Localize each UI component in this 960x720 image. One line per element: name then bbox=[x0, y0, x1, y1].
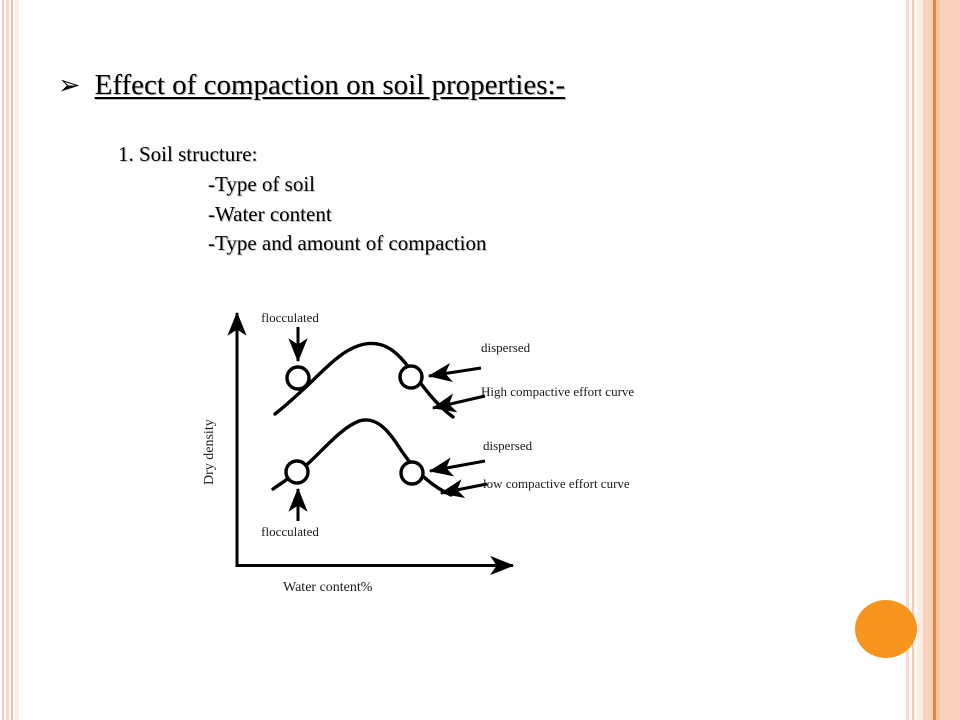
dispersed-marker-upper bbox=[400, 366, 422, 388]
right-stripe-5 bbox=[933, 0, 936, 720]
dispersed-marker-lower bbox=[401, 462, 423, 484]
label-lower-curve-name: low compactive effort curve bbox=[483, 476, 630, 491]
left-stripe-1 bbox=[2, 0, 4, 720]
left-stripe-3 bbox=[11, 0, 13, 720]
label-upper-curve-name: High compactive effort curve bbox=[481, 384, 634, 399]
left-stripe-2 bbox=[6, 0, 9, 720]
label-lower-flocculated: flocculated bbox=[261, 524, 319, 539]
x-axis-label: Water content% bbox=[283, 580, 373, 595]
list-item: 1. Soil structure: bbox=[118, 140, 486, 170]
list-item: -Type and amount of compaction bbox=[208, 229, 486, 259]
right-stripe-3 bbox=[917, 0, 923, 720]
page-title: ➢ Effect of compaction on soil propertie… bbox=[58, 70, 565, 100]
bullet-list: 1. Soil structure: -Type of soil -Water … bbox=[118, 140, 486, 259]
flocculated-marker-upper bbox=[287, 367, 309, 389]
page-title-text: Effect of compaction on soil properties:… bbox=[95, 70, 566, 100]
list-item: -Water content bbox=[208, 200, 486, 230]
left-stripe-4 bbox=[15, 0, 19, 720]
low-compactive-effort-curve bbox=[273, 420, 451, 495]
slide-canvas: ➢ Effect of compaction on soil propertie… bbox=[0, 0, 960, 720]
arrow-lower-dispersed bbox=[430, 461, 485, 471]
high-compactive-effort-curve bbox=[275, 343, 453, 417]
label-upper-flocculated: flocculated bbox=[261, 310, 319, 325]
label-lower-dispersed: dispersed bbox=[483, 438, 533, 453]
arrow-bullet-icon: ➢ bbox=[58, 72, 81, 99]
orange-accent-dot bbox=[855, 600, 917, 658]
arrow-upper-dispersed bbox=[429, 368, 481, 376]
annotation-arrows bbox=[298, 327, 487, 521]
list-item: -Type of soil bbox=[208, 170, 486, 200]
right-stripe-7 bbox=[940, 0, 960, 720]
y-axis-label: Dry density bbox=[202, 419, 217, 485]
label-upper-dispersed: dispersed bbox=[481, 340, 531, 355]
right-stripe-4 bbox=[923, 0, 933, 720]
arrow-lower-curve-name bbox=[441, 484, 487, 493]
right-stripe-6 bbox=[936, 0, 940, 720]
compaction-curve-figure: flocculated dispersed High compactive ef… bbox=[185, 295, 705, 610]
flocculated-marker-lower bbox=[286, 461, 308, 483]
arrow-upper-curve-name bbox=[433, 396, 485, 408]
right-stripe-2 bbox=[912, 0, 914, 720]
